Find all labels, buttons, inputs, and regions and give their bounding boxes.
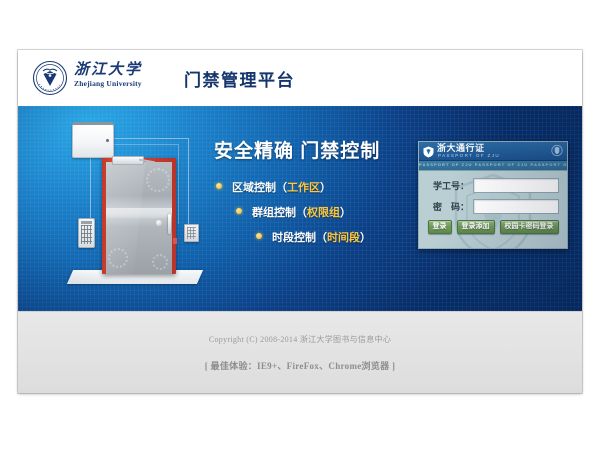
feature-highlight: 权限组 xyxy=(307,207,340,219)
zju-wordmark: 浙江大学 Zhejiang University xyxy=(74,62,174,94)
access-control-door-illustration xyxy=(52,120,212,300)
bullet-icon xyxy=(236,208,242,214)
feature-item-area: 区域控制（工作区） xyxy=(214,179,414,195)
hero-copy: 安全精确 门禁控制 区域控制（工作区） 群组控制（权限组） 时段控制（时间段） xyxy=(214,136,414,254)
username-label: 学工号： xyxy=(427,179,469,192)
wire-right-2 xyxy=(178,144,179,224)
username-row: 学工号： xyxy=(427,178,559,193)
page-title: 门禁管理平台 xyxy=(184,66,295,91)
login-panel-subtitle: PASSPORT OF ZJU xyxy=(438,153,500,158)
keypad-screen xyxy=(81,221,92,224)
card-reader-grid xyxy=(187,227,196,239)
password-label: 密 码： xyxy=(427,200,469,213)
wire-left xyxy=(90,156,91,218)
feature-label: 群组控制（ xyxy=(252,207,307,219)
gear-icon xyxy=(146,168,170,192)
bullet-icon xyxy=(216,183,222,189)
site-footer: Copyright (C) 2008-2014 浙江大学图书与信息中心 [ 最佳… xyxy=(18,311,582,393)
panel-badge-icon xyxy=(551,144,563,157)
wire-top-2 xyxy=(110,144,178,145)
feature-label: 区域控制（ xyxy=(232,182,287,194)
gear-icon xyxy=(152,254,168,270)
hero-slogan: 安全精确 门禁控制 xyxy=(214,136,414,163)
gear-icon xyxy=(108,248,128,268)
door-latch-icon xyxy=(173,238,177,244)
feature-label: 时段控制（ xyxy=(272,232,327,244)
login-panel-header: 浙大通行证 PASSPORT OF ZJU xyxy=(419,142,567,161)
feature-item-group: 群组控制（权限组） xyxy=(214,204,414,220)
password-input[interactable] xyxy=(474,204,558,217)
username-field[interactable] xyxy=(473,178,559,193)
shield-icon xyxy=(423,145,434,157)
login-button[interactable]: 登录 xyxy=(428,220,452,234)
hero-banner: 安全精确 门禁控制 区域控制（工作区） 群组控制（权限组） 时段控制（时间段） xyxy=(18,106,582,311)
keypad-buttons xyxy=(81,225,92,244)
login-panel-title: 浙大通行证 xyxy=(437,144,485,153)
card-reader-icon xyxy=(184,224,199,242)
passport-strip-text: PASSPORT OF ZJU PASSPORT OF ZJU PASSPORT… xyxy=(419,162,567,167)
door-closer-icon xyxy=(112,156,144,165)
glass-band xyxy=(106,208,172,218)
keypad-reader-icon xyxy=(78,218,95,248)
passport-watermark-strip: PASSPORT OF ZJU PASSPORT OF ZJU PASSPORT… xyxy=(419,161,567,171)
feature-item-time: 时段控制（时间段） xyxy=(214,229,414,245)
controller-led-icon xyxy=(106,139,109,142)
wire-top xyxy=(110,138,188,139)
zju-name-cn: 浙江大学 xyxy=(74,62,174,78)
site-header: 浙江大学 Zhejiang University 门禁管理平台 xyxy=(18,50,582,106)
copyright-text: Copyright (C) 2008-2014 浙江大学图书与信息中心 xyxy=(18,312,582,345)
controller-box-icon xyxy=(72,124,114,158)
password-field[interactable] xyxy=(473,199,559,214)
feature-list: 区域控制（工作区） 群组控制（权限组） 时段控制（时间段） xyxy=(214,179,414,245)
bullet-icon xyxy=(256,233,262,239)
door-glass-panel xyxy=(106,162,172,274)
page-container: 浙江大学 Zhejiang University 门禁管理平台 xyxy=(18,50,582,393)
zju-name-en: Zhejiang University xyxy=(74,79,174,89)
feature-highlight: 时间段 xyxy=(327,232,360,244)
door-frame xyxy=(102,158,176,274)
login-button-row: 登录 登录添加 校园卡密码登录 xyxy=(427,220,559,234)
feature-tail: ） xyxy=(340,207,351,219)
zju-seal-logo-icon xyxy=(32,60,68,96)
username-input[interactable] xyxy=(474,183,558,196)
door-knob-icon xyxy=(156,220,162,226)
login-form: 学工号： 密 码： 登录 登录添加 校园卡密码登录 xyxy=(419,171,567,234)
login-add-button[interactable]: 登录添加 xyxy=(457,220,495,234)
feature-tail: ） xyxy=(360,232,371,244)
password-row: 密 码： xyxy=(427,199,559,214)
campus-card-login-button[interactable]: 校园卡密码登录 xyxy=(500,220,559,234)
login-panel: 浙大通行证 PASSPORT OF ZJU PASSPORT OF ZJU PA… xyxy=(418,141,568,249)
door-handle-icon xyxy=(168,214,171,234)
feature-highlight: 工作区 xyxy=(287,182,320,194)
wire-right xyxy=(188,138,189,224)
browser-support-text: [ 最佳体验：IE9+、FireFox、Chrome浏览器 ] xyxy=(18,359,582,372)
feature-tail: ） xyxy=(320,182,331,194)
